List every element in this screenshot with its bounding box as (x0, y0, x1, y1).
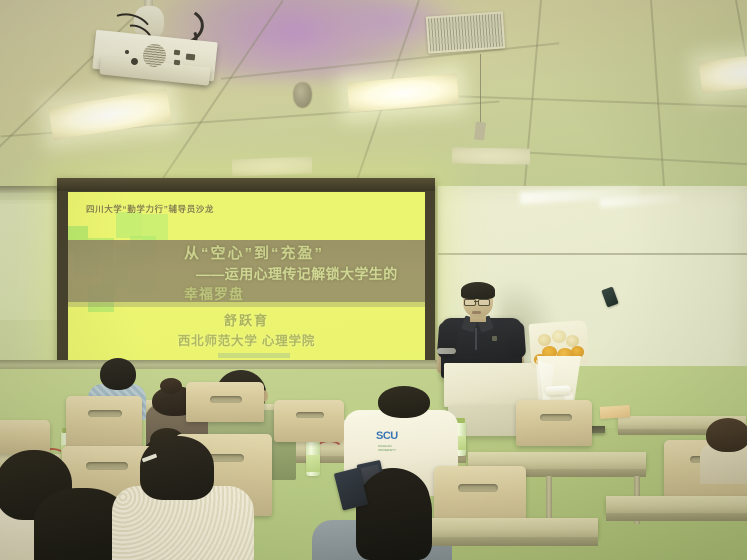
chair-handle-slot (540, 414, 572, 421)
student-desk (418, 518, 598, 538)
slide-title-group: 从“空心”到“充盈” ——运用心理传记解锁大学生的 幸福罗盘 (184, 244, 422, 304)
ceiling-hanger-clip (474, 122, 486, 141)
student-desk-edge (418, 537, 598, 546)
ceiling (0, 0, 747, 190)
slide-speaker-affiliation: 西北师范大学 心理学院 (68, 330, 425, 349)
projector-port (174, 50, 180, 56)
presenter-sleeve-cuff-left (437, 348, 456, 354)
projector-port (174, 60, 180, 66)
chair-handle-slot (88, 410, 122, 417)
chair-handle-slot (210, 396, 242, 403)
chair-handle-slot (296, 412, 324, 418)
student-desk (606, 496, 747, 514)
slide-header-text: 四川大学“勤学力行”辅导员沙龙 (86, 203, 214, 215)
ceiling-projector (86, 0, 226, 100)
ceiling-seam (735, 0, 747, 190)
bouquet-ribbon-bow (545, 385, 571, 395)
slide-title-line-1: 从“空心”到“充盈” (184, 244, 422, 264)
whiteboard-seam (437, 253, 747, 255)
attendee-head-foreground-bun (140, 436, 214, 500)
slide-title-line-3: 幸福罗盘 (184, 284, 422, 304)
attendee-head (378, 386, 430, 418)
presenter-eyeglasses-right-lens (478, 299, 490, 306)
projector-port (186, 54, 196, 61)
classroom-chair[interactable] (0, 420, 50, 454)
projector-button[interactable] (131, 58, 138, 65)
attendee-hair-bun (160, 378, 182, 394)
ceiling-light-panel-4 (232, 157, 313, 177)
presenter-eyeglasses-bridge (474, 301, 478, 302)
projection-screen-header-bar (57, 178, 435, 191)
classroom-chair[interactable] (516, 400, 592, 446)
student-desk-edge (606, 513, 747, 521)
ceiling-seam (650, 0, 668, 190)
attendee-head-foreground-right (356, 470, 432, 560)
slide-bottom-bar (218, 353, 290, 358)
ceiling-light-panel-3 (698, 50, 747, 93)
lecture-hall-photo: 四川大学“勤学力行”辅导员沙龙 从“空心”到“充盈” ——运用心理传记解锁大学生… (0, 0, 747, 560)
classroom-chair[interactable] (66, 396, 142, 452)
presenter-shirt-logo (492, 336, 497, 341)
attendee-head (100, 358, 136, 390)
screen-wall-ledge (0, 360, 437, 369)
presenter-hair (461, 282, 495, 299)
air-vent-grille (426, 11, 505, 53)
scu-logo-s: SCU (376, 430, 398, 442)
handout-paper[interactable] (600, 405, 631, 419)
bouquet-flower (538, 334, 551, 346)
scu-logo-text: SCU (376, 431, 398, 442)
scu-logo-subtext: SICHUAN UNIVERSITY (378, 444, 396, 452)
classroom-chair[interactable] (274, 400, 344, 442)
presenter-shirt-placket (475, 328, 477, 350)
presenter-sleeve-right (505, 321, 526, 358)
bouquet-flower (552, 330, 566, 343)
ceiling-seam-horizontal (430, 94, 747, 107)
slide-title-line-2: ——运用心理传记解锁大学生的 (184, 264, 422, 284)
fire-sprinkler-head (293, 82, 312, 108)
attendee-head (706, 418, 747, 452)
chair-handle-slot (458, 484, 498, 492)
ceiling-light-panel-5 (452, 147, 530, 164)
projection-screen: 四川大学“勤学力行”辅导员沙龙 从“空心”到“充盈” ——运用心理传记解锁大学生… (68, 192, 425, 360)
water-bottle-label (306, 455, 320, 472)
slide-speaker-name: 舒跃育 (68, 310, 425, 329)
chair-handle-slot (86, 462, 128, 470)
presenter-mouth (472, 311, 481, 314)
ceiling-hanger-wire (480, 54, 481, 126)
projector-button[interactable] (125, 50, 129, 54)
